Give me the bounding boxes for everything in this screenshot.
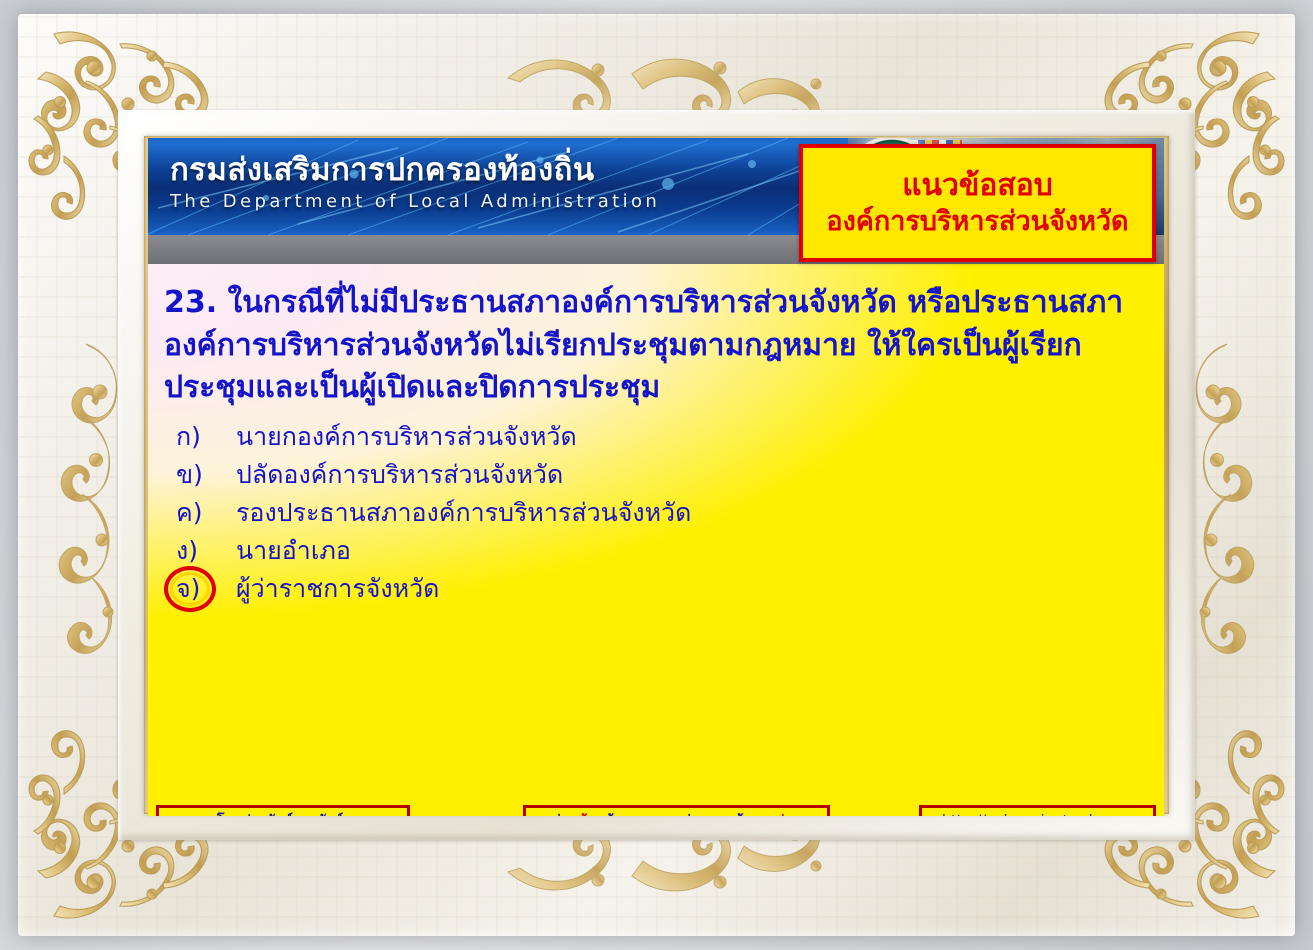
website-box[interactable]: http://valrom.igetweb.com	[919, 805, 1156, 816]
website-url: http://valrom.igetweb.com	[942, 813, 1133, 816]
question-text: 23. ในกรณีที่ไม่มีประธานสภาองค์การบริหาร…	[148, 264, 1164, 412]
credit-text: รวบรวมโดยประพันธ์ เวารัมย์	[168, 810, 343, 816]
credit-box: รวบรวมโดยประพันธ์ เวารัมย์	[156, 805, 410, 816]
choice-item-a[interactable]: ก) นายกองค์การบริหารส่วนจังหวัด	[148, 418, 1164, 456]
org-name-english: The Department of Local Administration	[170, 191, 660, 212]
choice-label-b: ข)	[176, 459, 220, 491]
slogan-part-6: มาก	[708, 810, 734, 816]
banner-logotype: กรมส่งเสริมการปกครองท้องถิ่น The Departm…	[170, 154, 660, 212]
desktop-backdrop: กรมส่งเสริมการปกครองท้องถิ่น The Departm…	[0, 0, 1313, 950]
choice-text-a: นายกองค์การบริหารส่วนจังหวัด	[236, 421, 577, 453]
choice-item-e-selected[interactable]: จ) ผู้ว่าราชการจังหวัด	[148, 570, 1164, 608]
title-line-2: องค์การบริหารส่วนจังหวัด	[826, 206, 1128, 237]
choice-item-d[interactable]: ง) นายอำเภอ	[148, 532, 1164, 570]
choice-label-a: ก)	[176, 421, 220, 453]
slogan-part-8: ง่าย	[778, 810, 801, 816]
choice-label-d: ง)	[176, 535, 220, 567]
choice-item-c[interactable]: ค) รองประธานสภาองค์การบริหารส่วนจังหวัด	[148, 494, 1164, 532]
slogan-part-7: ข้อสอบ	[734, 810, 778, 816]
slogan-part-1: อ่าน	[552, 810, 578, 816]
choice-text-b: ปลัดองค์การบริหารส่วนจังหวัด	[236, 459, 563, 491]
exam-title-card: แนวข้อสอบ องค์การบริหารส่วนจังหวัด	[799, 144, 1156, 262]
slogan-part-2: น้อย	[578, 810, 604, 816]
slide-footer: รวบรวมโดยประพันธ์ เวารัมย์ อ่านน้อยข้อสอ…	[148, 805, 1164, 816]
slogan-part-4: ยาก	[648, 810, 673, 816]
slide-body: 23. ในกรณีที่ไม่มีประธานสภาองค์การบริหาร…	[148, 264, 1164, 816]
org-name-thai: กรมส่งเสริมการปกครองท้องถิ่น	[170, 154, 660, 187]
choice-text-e: ผู้ว่าราชการจังหวัด	[236, 573, 439, 605]
choice-text-c: รองประธานสภาองค์การบริหารส่วนจังหวัด	[236, 497, 691, 529]
choice-text-d: นายอำเภอ	[236, 535, 351, 567]
choice-label-c: ค)	[176, 497, 220, 529]
slogan-box: อ่านน้อยข้อสอบยาก อ่านมากข้อสอบง่าย	[523, 805, 830, 816]
slogan-gap	[673, 813, 683, 816]
slogan-part-3: ข้อสอบ	[604, 810, 648, 816]
choice-item-b[interactable]: ข) ปลัดองค์การบริหารส่วนจังหวัด	[148, 456, 1164, 494]
choice-label-e-circled: จ)	[176, 573, 220, 605]
choice-list: ก) นายกองค์การบริหารส่วนจังหวัด ข) ปลัดอ…	[148, 418, 1164, 608]
presentation-slide: กรมส่งเสริมการปกครองท้องถิ่น The Departm…	[148, 138, 1164, 816]
title-line-1: แนวข้อสอบ	[902, 169, 1053, 203]
slogan-part-5: อ่าน	[683, 810, 709, 816]
